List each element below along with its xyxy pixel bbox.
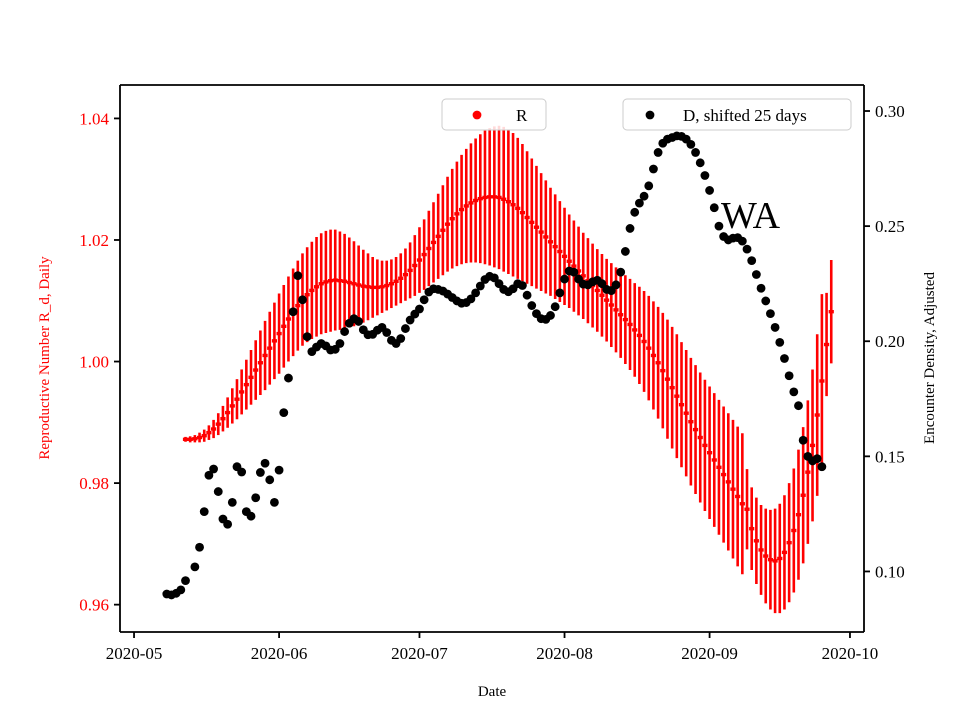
data-point (279, 408, 288, 417)
data-point (766, 309, 775, 318)
data-point (401, 324, 410, 333)
data-point (771, 323, 780, 332)
x-tick-label: 2020-06 (251, 644, 308, 663)
data-point (789, 387, 798, 396)
data-point (551, 302, 560, 311)
y-axis-right-ticks: 0.100.150.200.250.30 (864, 102, 905, 581)
data-point (649, 165, 658, 174)
data-point (256, 468, 265, 477)
data-point (546, 311, 555, 320)
figure: 2020-052020-062020-072020-082020-092020-… (0, 0, 960, 720)
y-axis-left-ticks: 0.960.981.001.021.04 (79, 109, 120, 614)
y-tick-label-left: 1.00 (79, 353, 109, 372)
data-point (195, 543, 204, 552)
y-tick-label-right: 0.25 (875, 217, 905, 236)
data-point (181, 576, 190, 585)
data-point (780, 354, 789, 363)
data-point (686, 140, 695, 149)
data-point (200, 507, 209, 516)
data-point (420, 295, 429, 304)
data-point (523, 291, 532, 300)
legend-entry-1[interactable]: R (442, 99, 546, 130)
y-tick-label-right: 0.30 (875, 102, 905, 121)
data-point (340, 327, 349, 336)
data-point (654, 148, 663, 157)
y-tick-label-right: 0.10 (875, 562, 905, 581)
x-tick-label: 2020-08 (536, 644, 593, 663)
data-point (640, 192, 649, 201)
data-point (752, 270, 761, 279)
data-point (293, 271, 302, 280)
y-tick-label-left: 0.96 (79, 596, 109, 615)
data-point (757, 284, 766, 293)
data-point (214, 487, 223, 496)
data-point (612, 280, 621, 289)
data-point (761, 297, 770, 306)
data-point (270, 498, 279, 507)
data-point (209, 465, 218, 474)
data-point (396, 334, 405, 343)
y-tick-label-left: 1.04 (79, 109, 109, 128)
data-point (284, 374, 293, 383)
chart-canvas: 2020-052020-062020-072020-082020-092020-… (0, 0, 960, 720)
data-point (275, 466, 284, 475)
data-point (303, 332, 312, 341)
data-point (251, 493, 260, 502)
data-point (817, 462, 826, 471)
data-point (415, 305, 424, 314)
data-point (799, 436, 808, 445)
data-point (336, 339, 345, 348)
data-point (630, 208, 639, 217)
data-point (644, 181, 653, 190)
data-point (223, 520, 232, 529)
y-tick-label-left: 1.02 (79, 231, 109, 250)
data-point (616, 268, 625, 277)
annotation-label: WA (721, 195, 781, 237)
data-point (237, 468, 246, 477)
data-point (518, 281, 527, 290)
data-point (298, 295, 307, 304)
data-point (785, 371, 794, 380)
data-point (247, 512, 256, 521)
data-point (265, 475, 274, 484)
data-point (560, 275, 569, 284)
data-point (705, 186, 714, 195)
legend-label: D, shifted 25 days (683, 106, 807, 125)
data-point (354, 317, 363, 326)
data-point (696, 158, 705, 167)
data-point (190, 562, 199, 571)
data-point (743, 245, 752, 254)
y-tick-label-right: 0.15 (875, 447, 905, 466)
y-tick-label-left: 0.98 (79, 474, 109, 493)
legend-entry-2[interactable]: D, shifted 25 days (623, 99, 851, 130)
x-tick-label: 2020-09 (681, 644, 738, 663)
x-tick-label: 2020-05 (106, 644, 163, 663)
data-point (228, 498, 237, 507)
legend-box (442, 99, 546, 130)
legend-label: R (516, 106, 528, 125)
data-point (527, 301, 536, 310)
data-point (176, 585, 185, 594)
data-point (261, 459, 270, 468)
data-point (621, 247, 630, 256)
data-point (701, 171, 710, 180)
data-point (747, 256, 756, 265)
data-point (813, 454, 822, 463)
data-point (738, 237, 747, 246)
data-point (555, 288, 564, 297)
data-point (710, 203, 719, 212)
data-point (626, 224, 635, 233)
legend-marker-icon (473, 111, 482, 120)
data-point (794, 401, 803, 410)
data-point (289, 307, 298, 316)
legend-marker-icon (646, 111, 655, 120)
y-tick-label-right: 0.20 (875, 332, 905, 351)
x-tick-label: 2020-10 (822, 644, 879, 663)
x-tick-label: 2020-07 (391, 644, 448, 663)
data-point (382, 328, 391, 337)
data-point (775, 338, 784, 347)
data-point (691, 148, 700, 157)
x-axis-ticks: 2020-052020-062020-072020-082020-092020-… (106, 632, 879, 663)
